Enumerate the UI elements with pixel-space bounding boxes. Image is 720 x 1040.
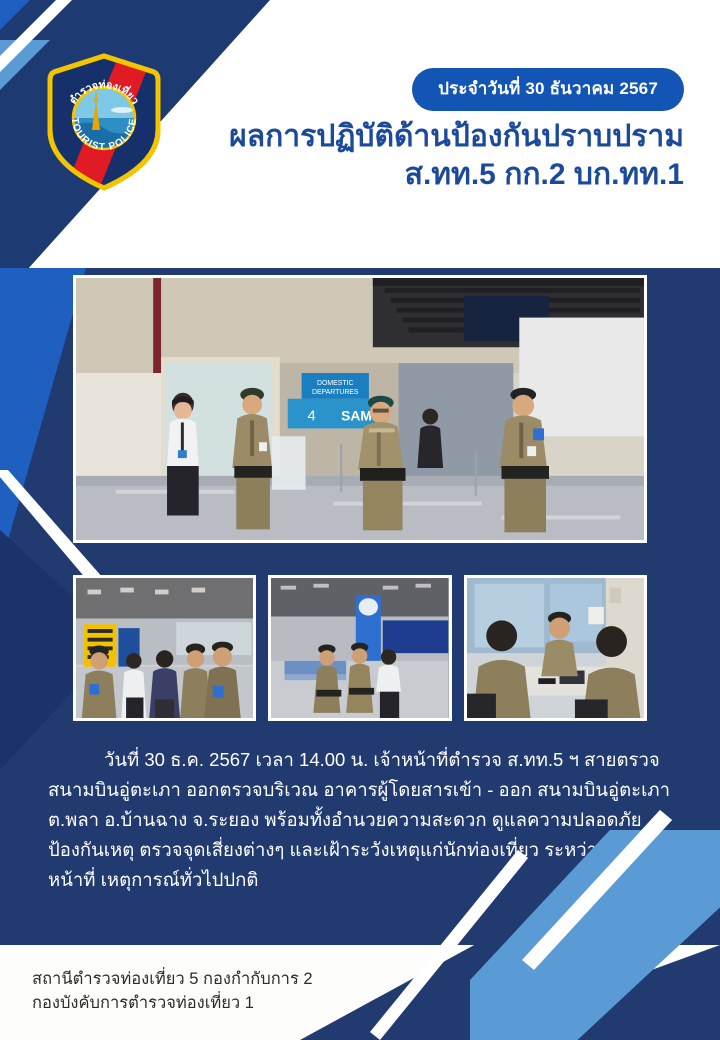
thumb-photo-2 [268,575,451,721]
svg-text:DEPARTURES: DEPARTURES [312,389,359,396]
page-title-line-1: ผลการปฏิบัติด้านป้องกันปราบปราม [229,120,684,153]
hero-photo: DOMESTIC DEPARTURES 4 SAM [73,275,647,543]
thumbnail-row [73,575,647,721]
svg-text:DOMESTIC: DOMESTIC [317,380,353,387]
thumb-photo-3 [464,575,647,721]
footer-text: สถานีตำรวจท่องเที่ยว 5 กองกำกับการ 2 กอง… [32,968,313,1016]
date-badge: ประจำวันที่ 30 ธันวาคม 2567 [412,68,684,111]
thumb-photo-1 [73,575,256,721]
tourist-police-badge-icon: ตำรวจท่องเที่ยว TOURIST POLICE [42,52,166,192]
svg-text:4: 4 [308,408,316,424]
page-title-line-2: ส.ทท.5 กก.2 บก.ทท.1 [164,156,684,194]
poster-root: ตำรวจท่องเที่ยว TOURIST POLICE ประจำวันท… [0,0,720,1040]
svg-text:SAM: SAM [341,407,372,423]
header: ตำรวจท่องเที่ยว TOURIST POLICE ประจำวันท… [0,0,720,268]
footer-line-1: สถานีตำรวจท่องเที่ยว 5 กองกำกับการ 2 [32,968,313,992]
footer-line-2: กองบังคับการตำรวจท่องเที่ยว 1 [32,992,313,1016]
page-title: ผลการปฏิบัติด้านป้องกันปราบปราม ส.ทท.5 ก… [164,118,684,195]
